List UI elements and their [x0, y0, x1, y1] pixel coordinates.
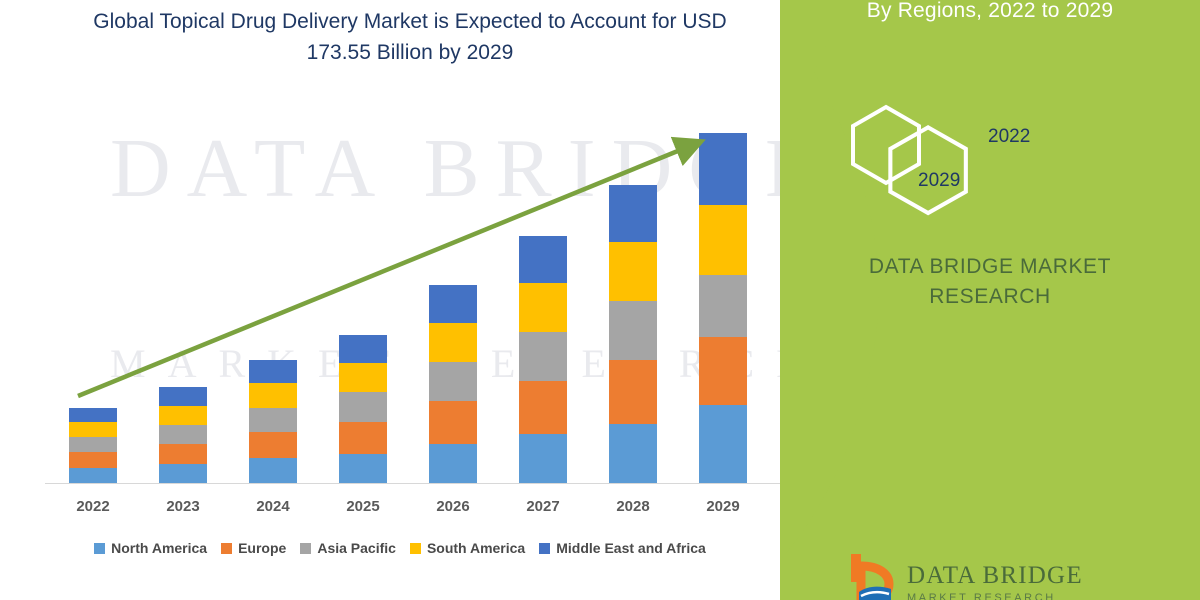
- legend-label: Asia Pacific: [317, 540, 396, 556]
- legend-label: North America: [111, 540, 207, 556]
- panel-brand-text: DATA BRIDGE MARKET RESEARCH: [780, 252, 1200, 312]
- hexagon-shapes: [780, 95, 1200, 225]
- company-logo: DATA BRIDGE MARKET RESEARCH: [845, 552, 1200, 600]
- bar-chart: 20222023202420252026202720282029 North A…: [0, 0, 800, 600]
- x-axis-label-2028: 2028: [593, 498, 673, 515]
- legend-item-south-america[interactable]: South America: [410, 540, 525, 556]
- panel-brand-line-2: RESEARCH: [780, 282, 1200, 312]
- hexagon-label-end: 2029: [918, 170, 960, 192]
- legend-item-asia-pacific[interactable]: Asia Pacific: [300, 540, 396, 556]
- legend-swatch-icon: [410, 543, 421, 554]
- panel-brand-line-1: DATA BRIDGE MARKET: [780, 252, 1200, 282]
- x-axis-label-2022: 2022: [53, 498, 133, 515]
- legend-swatch-icon: [539, 543, 550, 554]
- legend-swatch-icon: [221, 543, 232, 554]
- legend-swatch-icon: [300, 543, 311, 554]
- right-green-panel: By Regions, 2022 to 2029 2029 2022 DATA …: [780, 0, 1200, 600]
- legend-swatch-icon: [94, 543, 105, 554]
- x-axis-label-2024: 2024: [233, 498, 313, 515]
- legend-label: Middle East and Africa: [556, 540, 706, 556]
- legend-item-europe[interactable]: Europe: [221, 540, 286, 556]
- hexagon-group: 2029 2022: [780, 95, 1200, 225]
- chart-legend: North AmericaEuropeAsia PacificSouth Ame…: [0, 540, 800, 556]
- hexagon-label-start: 2022: [988, 126, 1030, 148]
- legend-label: South America: [427, 540, 525, 556]
- databridge-logo-icon: [845, 552, 899, 600]
- x-axis-label-2029: 2029: [683, 498, 763, 515]
- logo-wordmark: DATA BRIDGE: [907, 562, 1083, 590]
- x-axis-labels: 20222023202420252026202720282029: [0, 498, 800, 522]
- x-axis-label-2025: 2025: [323, 498, 403, 515]
- legend-item-north-america[interactable]: North America: [94, 540, 207, 556]
- legend-item-middle-east-and-africa[interactable]: Middle East and Africa: [539, 540, 706, 556]
- panel-title: By Regions, 2022 to 2029: [780, 0, 1200, 24]
- x-axis-label-2026: 2026: [413, 498, 493, 515]
- x-axis-label-2023: 2023: [143, 498, 223, 515]
- infographic-root: DATA BRIDGE MARKET RESEARCH Global Topic…: [0, 0, 1200, 600]
- legend-label: Europe: [238, 540, 286, 556]
- logo-tagline: MARKET RESEARCH: [907, 592, 1056, 600]
- x-axis-label-2027: 2027: [503, 498, 583, 515]
